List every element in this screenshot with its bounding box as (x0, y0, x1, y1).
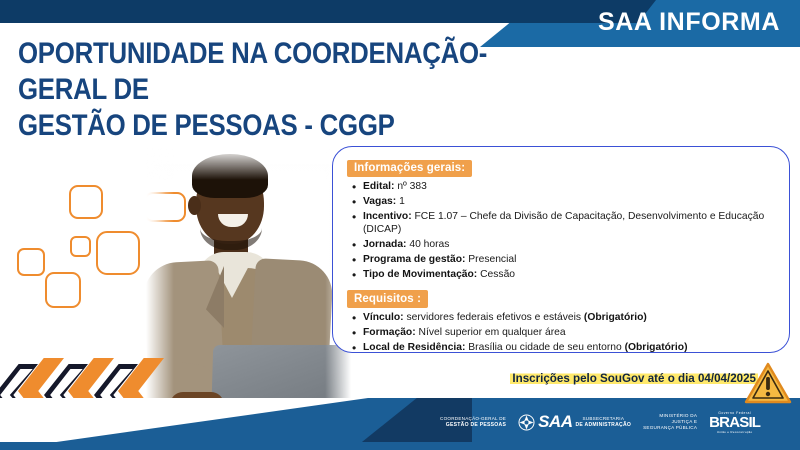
item-value: Nível superior em qualquer área (416, 327, 566, 338)
section-heading: Informações gerais: (347, 160, 472, 178)
list-item: Vínculo: servidores federais efetivos e … (347, 312, 773, 325)
item-value: FCE 1.07 – Chefe da Divisão de Capacitaç… (363, 211, 764, 235)
banner-title: SAA INFORMA (598, 6, 780, 38)
decor-rounded-square (17, 248, 45, 276)
item-value: Presencial (465, 254, 516, 265)
ministry-text: Ministério da Justiça e Segurança Públic… (643, 413, 697, 432)
info-list: Edital: nº 383 Vagas: 1 Incentivo: FCE 1… (347, 181, 773, 282)
info-card-body: Informações gerais: Edital: nº 383 Vagas… (333, 147, 789, 354)
saa-logo: SAA Subsecretaria de Administração (518, 412, 631, 432)
item-label: Edital: (363, 181, 394, 192)
item-emphasis: (Obrigatório) (584, 312, 647, 323)
decor-rounded-square (69, 185, 103, 219)
brasil-wordmark: BRASIL (709, 415, 760, 430)
saa-line2: de Administração (576, 422, 632, 428)
saa-wordmark: SAA (538, 412, 572, 432)
ministry-line3: Segurança Pública (643, 425, 697, 431)
item-label: Vagas: (363, 196, 396, 207)
item-value: servidores federais efetivos e estáveis (404, 312, 584, 323)
list-item: Tipo de Movimentação: Cessão (347, 269, 773, 282)
list-item: Local de Residência: Brasília ou cidade … (347, 342, 773, 355)
list-item: Programa de gestão: Presencial (347, 254, 773, 267)
item-label: Local de Residência: (363, 342, 465, 353)
inscription-callout: Inscrições pelo SouGov até o dia 04/04/2… (510, 371, 758, 386)
list-item: Edital: nº 383 (347, 181, 773, 194)
item-label: Vínculo: (363, 312, 404, 323)
item-label: Programa de gestão: (363, 254, 465, 265)
item-value: Brasília ou cidade de seu entorno (465, 342, 624, 353)
footer-bottom-strip (0, 442, 800, 450)
footer-logos: Coordenação-Geral de Gestão de Pessoas S… (440, 404, 794, 440)
item-value: nº 383 (394, 181, 426, 192)
item-emphasis: (Obrigatório) (625, 342, 688, 353)
item-label: Formação: (363, 327, 416, 338)
top-navy-bar (0, 0, 620, 23)
brasil-sub-label: União e Reconstrução (709, 430, 760, 434)
item-value: 1 (396, 196, 405, 207)
decor-rounded-square (70, 236, 91, 257)
item-label: Jornada: (363, 239, 407, 250)
list-item: Jornada: 40 horas (347, 239, 773, 252)
section-informacoes-gerais: Informações gerais: Edital: nº 383 Vagas… (347, 158, 773, 282)
list-item: Vagas: 1 (347, 196, 773, 209)
poster-canvas: SAA INFORMA OPORTUNIDADE NA COORDENAÇÃO-… (0, 0, 800, 450)
decor-rounded-square (45, 272, 81, 308)
subsecretaria-text: Subsecretaria de Administração (576, 416, 632, 428)
item-value: 40 horas (407, 239, 450, 250)
requirements-list: Vínculo: servidores federais efetivos e … (347, 312, 773, 355)
section-heading: Requisitos : (347, 290, 428, 308)
item-value: Cessão (477, 269, 515, 280)
item-label: Incentivo: (363, 211, 412, 222)
item-label: Tipo de Movimentação: (363, 269, 477, 280)
info-card: Informações gerais: Edital: nº 383 Vagas… (332, 146, 790, 353)
warning-triangle-icon (744, 362, 792, 405)
list-item: Incentivo: FCE 1.07 – Chefe da Divisão d… (347, 211, 773, 236)
photo-hair (192, 154, 268, 198)
list-item: Formação: Nível superior em qualquer áre… (347, 327, 773, 340)
cggp-logo: Coordenação-Geral de Gestão de Pessoas (440, 416, 506, 428)
section-requisitos: Requisitos : Vínculo: servidores federai… (347, 289, 773, 355)
photo-backdrop (140, 140, 355, 430)
saa-compass-icon (518, 414, 535, 431)
decor-rounded-square (96, 231, 140, 275)
brasil-logo: Governo Federal BRASIL União e Reconstru… (709, 411, 760, 434)
person-photo (140, 140, 355, 430)
page-title: OPORTUNIDADE NA COORDENAÇÃO-GERAL DE GES… (18, 36, 500, 144)
cggp-line2: Gestão de Pessoas (440, 422, 506, 428)
